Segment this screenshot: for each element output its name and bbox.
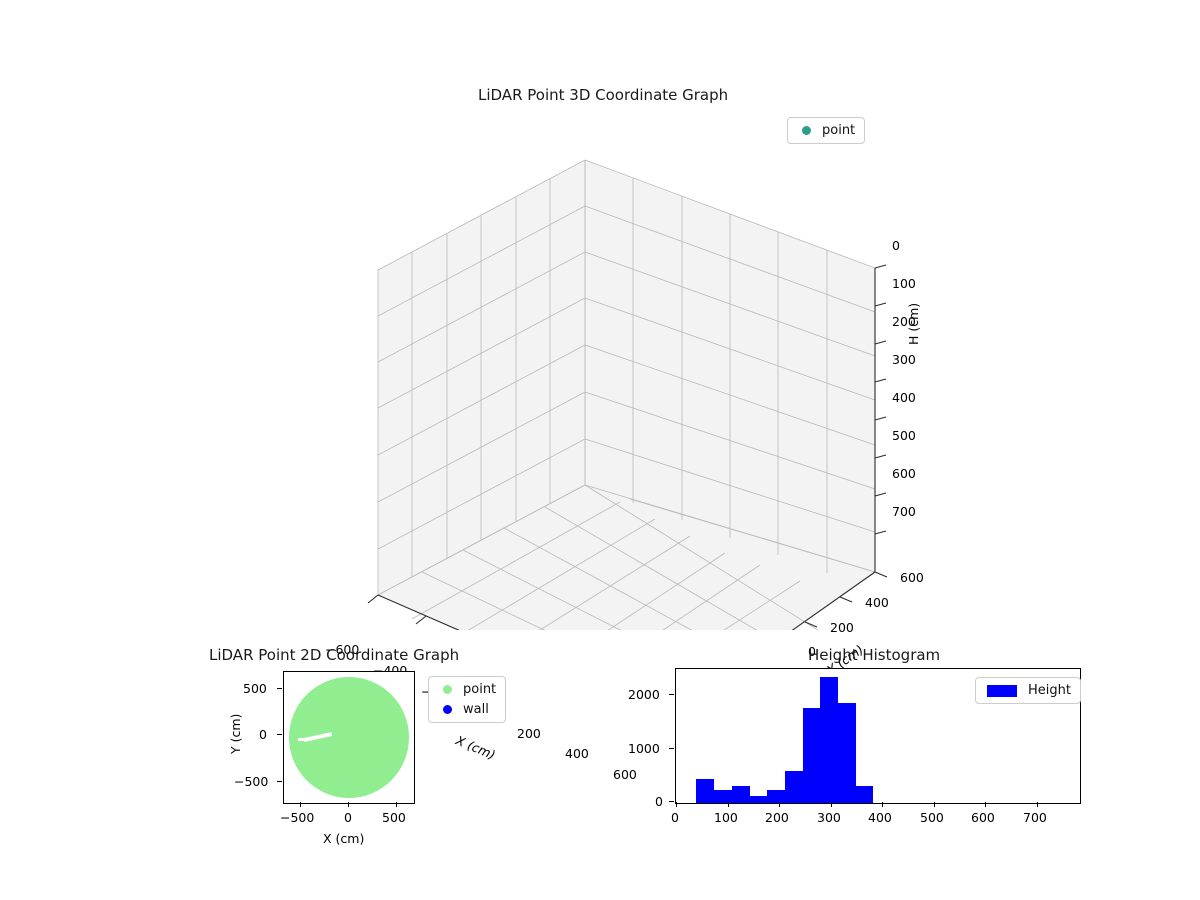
plot3d-ytick-1: 400 (865, 595, 889, 610)
plot3d-xtick-4: 200 (517, 726, 541, 741)
histogram-bar (856, 786, 873, 803)
legend-label-point: point (822, 123, 855, 138)
point-marker-icon (443, 685, 452, 694)
plot3d-xaxis-label: X (cm) (454, 733, 498, 763)
histogram-bar (767, 790, 785, 803)
histogram-bar (714, 790, 732, 803)
plot3d-ztick-1: 100 (892, 276, 916, 291)
plot3d-xtick-5: 400 (565, 746, 589, 761)
plot2d-ytickmark-1 (277, 734, 282, 735)
histogram-title: Height Histogram (808, 646, 940, 664)
histogram-bar (696, 779, 714, 803)
legend-item-point[interactable]: point (797, 122, 855, 139)
height-patch-icon (987, 685, 1017, 697)
plot3d-canvas (330, 140, 950, 630)
plot3d-ztick-3: 300 (892, 352, 916, 367)
legend-item-wall[interactable]: wall (438, 701, 496, 718)
plot2d-ytick-2: −500 (234, 774, 268, 789)
histogram-bar (785, 771, 803, 803)
legend-item-height[interactable]: Height (985, 682, 1071, 699)
histogram-legend[interactable]: Height (975, 677, 1081, 704)
legend-label-height: Height (1028, 683, 1071, 698)
histogram-bar (750, 796, 767, 803)
plot3d-ytick-0: 600 (900, 570, 924, 585)
hist-xtick-1: 100 (714, 810, 738, 825)
plot2d-ytick-0: 500 (243, 681, 267, 696)
hist-ytickmark-2 (669, 694, 674, 695)
plot2d-xtick-0: −500 (280, 810, 314, 825)
wall-marker-icon (443, 705, 452, 714)
point-marker-icon (802, 126, 811, 135)
legend-item-point[interactable]: point (438, 681, 496, 698)
plot2d-ytick-1: 0 (259, 727, 267, 742)
hist-ytick-2: 2000 (628, 687, 660, 702)
legend-label-point: point (463, 682, 496, 697)
plot2d-xtick-1: 0 (344, 810, 352, 825)
histogram-bar (803, 708, 820, 803)
hist-xtick-0: 0 (671, 810, 679, 825)
hist-ytickmark-0 (669, 801, 674, 802)
scan-shadow-notch-2 (298, 738, 308, 741)
hist-xtickmark-2 (779, 802, 780, 807)
plot3d-ztick-6: 600 (892, 466, 916, 481)
plot2d-title: LiDAR Point 2D Coordinate Graph (209, 646, 459, 664)
hist-xtick-6: 600 (971, 810, 995, 825)
hist-xtick-5: 500 (920, 810, 944, 825)
figure-canvas: LiDAR Point 3D Coordinate Graph point (0, 0, 1200, 900)
plot2d-xtickmark-0 (300, 802, 301, 807)
plot2d-xtick-2: 500 (382, 810, 406, 825)
plot3d-ztick-0: 0 (892, 238, 900, 253)
plot2d-legend[interactable]: point wall (428, 676, 506, 723)
hist-xtick-3: 300 (817, 810, 841, 825)
plot2d-yaxis-label: Y (cm) (228, 714, 243, 754)
plot3d-axes[interactable]: −600 −400 −200 0 200 400 600 X (cm) 600 … (330, 140, 950, 630)
plot3d-ztick-4: 400 (892, 390, 916, 405)
hist-xtick-7: 700 (1023, 810, 1047, 825)
hist-xtickmark-7 (1037, 802, 1038, 807)
hist-xtickmark-0 (676, 802, 677, 807)
hist-xtickmark-1 (728, 802, 729, 807)
plot3d-ztick-5: 500 (892, 428, 916, 443)
hist-ytick-0: 0 (655, 794, 663, 809)
hist-xtickmark-5 (934, 802, 935, 807)
plot2d-ytickmark-0 (277, 688, 282, 689)
plot2d-ytickmark-2 (277, 781, 282, 782)
plot3d-ytick-2: 200 (830, 620, 854, 635)
legend-label-wall: wall (463, 702, 489, 717)
plot3d-ztick-7: 700 (892, 504, 916, 519)
histogram-bar (732, 786, 750, 803)
hist-ytick-1: 1000 (628, 741, 660, 756)
plot3d-zaxis-label: H (cm) (906, 303, 921, 345)
histogram-bar (820, 677, 838, 803)
hist-ytickmark-1 (669, 748, 674, 749)
plot2d-axes[interactable] (283, 671, 415, 804)
plot2d-xaxis-label: X (cm) (323, 831, 364, 846)
hist-xtickmark-4 (882, 802, 883, 807)
hist-xtickmark-6 (985, 802, 986, 807)
z-axis-ticks (875, 265, 886, 534)
hist-xtick-4: 400 (868, 810, 892, 825)
plot2d-xtickmark-2 (396, 802, 397, 807)
plot2d-xtickmark-1 (348, 802, 349, 807)
plot3d-title: LiDAR Point 3D Coordinate Graph (478, 86, 728, 104)
histogram-bar (838, 703, 856, 803)
hist-xtickmark-3 (831, 802, 832, 807)
hist-xtick-2: 200 (765, 810, 789, 825)
plot3d-xtick-6: 600 (613, 767, 637, 782)
